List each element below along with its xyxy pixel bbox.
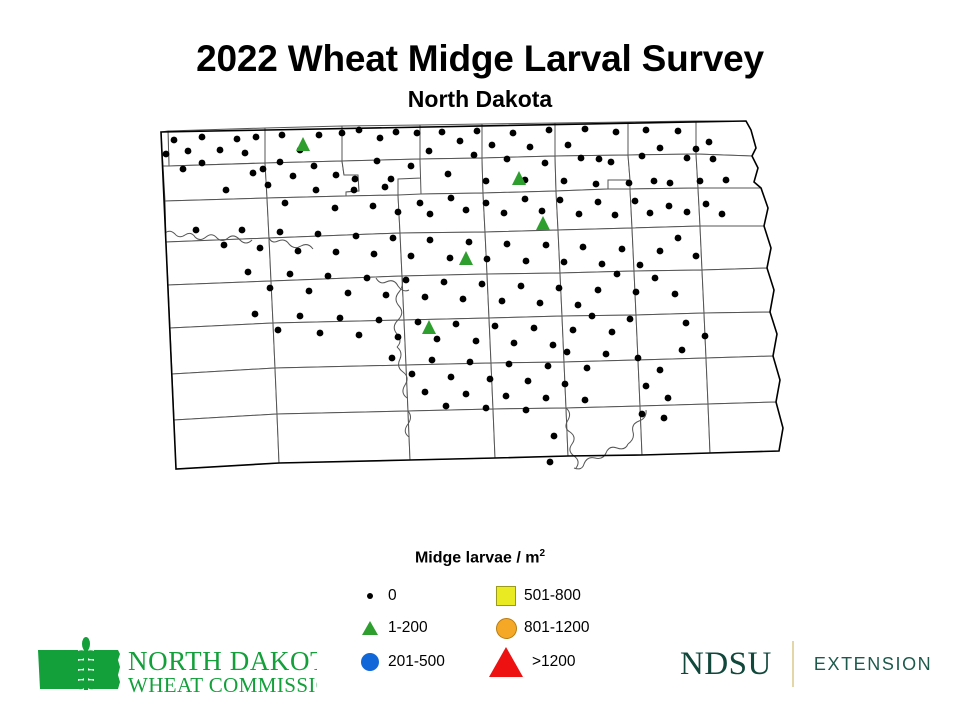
ndsu-wordmark: NDSU (680, 648, 772, 681)
legend-label-501-800: 501-800 (524, 587, 581, 605)
ndsu-divider (792, 641, 794, 687)
title-block: 2022 Wheat Midge Larval Survey North Dak… (0, 40, 960, 113)
legend-red-triangle-icon (488, 647, 524, 677)
legend-dot-icon (352, 593, 388, 599)
legend-item-zero[interactable]: 0 (352, 583, 397, 609)
ndsu-extension-word: EXTENSION (814, 654, 932, 675)
legend-label-gt1200: >1200 (532, 653, 576, 671)
legend-item-801-1200[interactable]: 801-1200 (488, 615, 590, 641)
page-subtitle: North Dakota (0, 86, 960, 113)
ndwc-state-mark (38, 637, 120, 690)
legend-item-1-200[interactable]: 1-200 (352, 615, 428, 641)
ndwc-line2: WHEAT COMMISSION (128, 673, 317, 697)
legend-label-zero: 0 (388, 587, 397, 605)
legend-item-gt1200[interactable]: >1200 (488, 645, 576, 679)
legend-title-text: Midge larvae / m (415, 549, 540, 566)
north-dakota-wheat-commission-logo: NORTH DAKOTA WHEAT COMMISSION (32, 634, 317, 700)
legend-item-501-800[interactable]: 501-800 (488, 583, 581, 609)
legend-label-1-200: 1-200 (388, 619, 428, 637)
legend-yellow-square-icon (488, 586, 524, 606)
map-legend: Midge larvae / m2 0 1-200 201-500 501-80… (0, 548, 960, 583)
legend-title: Midge larvae / m2 (0, 548, 960, 567)
map-svg (130, 118, 830, 538)
legend-item-201-500[interactable]: 201-500 (352, 649, 445, 675)
legend-orange-circle-icon (488, 618, 524, 639)
legend-label-201-500: 201-500 (388, 653, 445, 671)
legend-label-801-1200: 801-1200 (524, 619, 590, 637)
north-dakota-map (130, 118, 830, 538)
ndsu-extension-logo: NDSU EXTENSION (680, 640, 932, 688)
legend-green-triangle-icon (352, 621, 388, 635)
legend-blue-circle-icon (352, 653, 388, 671)
page-title: 2022 Wheat Midge Larval Survey (0, 40, 960, 79)
ndwc-logo-svg: NORTH DAKOTA WHEAT COMMISSION (32, 634, 317, 700)
ndwc-line1: NORTH DAKOTA (128, 646, 317, 676)
legend-title-superscript: 2 (539, 548, 545, 559)
